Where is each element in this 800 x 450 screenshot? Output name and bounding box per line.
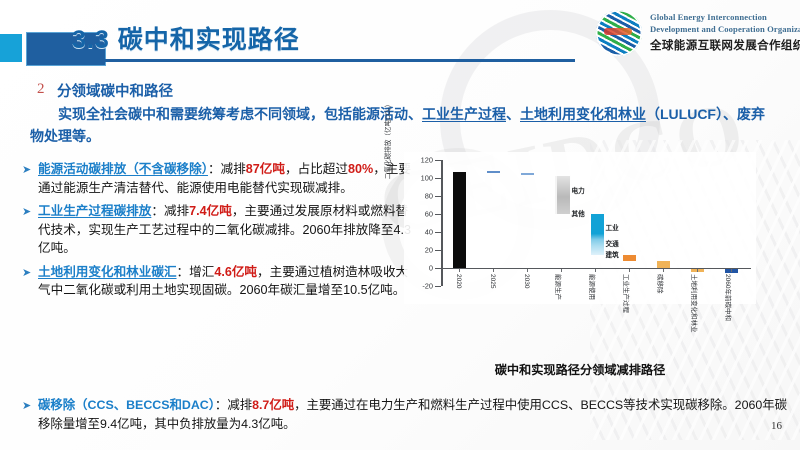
bullet-arrow-icon: ➤ xyxy=(22,203,31,222)
y-axis-labels: -20020406080100120 xyxy=(404,152,433,294)
bullet-pre: 减排 xyxy=(227,398,252,412)
section-title: 分领域碳中和路径 xyxy=(57,80,173,101)
bullet-sep: ： xyxy=(215,398,227,412)
logo-english-line2: Development and Cooperation Organization xyxy=(650,24,800,34)
globe-icon xyxy=(596,10,642,56)
bullet-sep: ： xyxy=(177,265,190,279)
bullet-key: 工业生产过程碳排放 xyxy=(38,204,151,218)
x-axis-tick-label: 能源生产 xyxy=(554,274,564,300)
y-axis-tick xyxy=(435,286,441,287)
chart-caption: 碳中和实现路径分领域减排路径 xyxy=(404,360,756,378)
intro-text-part2: 、 xyxy=(506,106,520,122)
section-number: 2 xyxy=(37,81,45,98)
bullet-list: ➤ 能源活动碳排放（不含碳移除）：减排87亿吨，占比超过80%，主要通过能源生产… xyxy=(22,160,412,305)
bullet-arrow-icon: ➤ xyxy=(22,161,31,180)
intro-underline-2: 土地利用变化和林业 xyxy=(520,106,646,122)
header-accent-square-cyan xyxy=(0,34,22,62)
chart-bar xyxy=(623,255,636,261)
x-axis-tick-label: 工业生产过程 xyxy=(622,274,632,313)
intro-underline-1: 工业生产过程 xyxy=(422,106,506,122)
bullet-key: 能源活动碳排放（不含碳移除） xyxy=(38,162,208,176)
x-axis-tick-label: 2020 xyxy=(455,274,462,288)
logo-english-line1: Global Energy Interconnection xyxy=(650,12,767,22)
chart-segment-label: 建筑 xyxy=(606,249,619,259)
list-item: ➤ 工业生产过程碳排放：减排7.4亿吨，主要通过发展原材料或燃料替代技术，实现生… xyxy=(22,202,412,258)
logo-chinese-name: 全球能源互联网发展合作组织 xyxy=(650,37,800,53)
y-axis-tick xyxy=(435,232,441,233)
bullet-key: 碳移除（CCS、BECCS和DAC） xyxy=(38,398,215,412)
list-item-wide: ➤ 碳移除（CCS、BECCS和DAC）：减排8.7亿吨，主要通过在电力生产和燃… xyxy=(22,396,794,434)
bullet-sep: ： xyxy=(151,204,164,218)
y-axis-title: 二氧化碳排放（亿吨CO₂） xyxy=(382,92,392,188)
x-axis-tick-label: 土地利用变化和林业 xyxy=(690,274,700,333)
x-axis-tick-label: 2025 xyxy=(489,274,496,288)
bullet-sep: ： xyxy=(208,162,221,176)
x-axis-tick-label: 碳移除 xyxy=(656,274,666,294)
bullet-highlight-1: 87亿吨 xyxy=(246,162,285,176)
y-axis-tick-label: -20 xyxy=(422,282,433,291)
bullet-mid: ，占比超过 xyxy=(285,162,348,176)
bullet-pre: 增汇 xyxy=(189,265,214,279)
chart-bar xyxy=(453,172,466,268)
page-number: 16 xyxy=(771,420,782,432)
slide-header: 3.3 碳中和实现路径 Global Energy Interconnectio… xyxy=(0,0,800,72)
list-item: ➤ 土地利用变化和林业碳汇：增汇4.6亿吨，主要通过植树造林吸收大气中二氧化碳或… xyxy=(22,263,412,300)
organization-logo: Global Energy Interconnection Developmen… xyxy=(596,8,791,60)
chart-bar xyxy=(555,176,570,214)
intro-text-part1: 实现全社会碳中和需要统筹考虑不同领域，包括能源活动、 xyxy=(58,106,422,122)
chart-segment-label: 交通 xyxy=(606,238,619,248)
bullet-key: 土地利用变化和林业碳汇 xyxy=(38,265,177,279)
y-axis-tick-label: 60 xyxy=(425,210,433,219)
y-axis-tick xyxy=(435,250,441,251)
chart-bar xyxy=(487,171,500,173)
bullet-arrow-icon: ➤ xyxy=(22,397,31,416)
bullet-highlight-1: 7.4亿吨 xyxy=(189,204,232,218)
chart-bar xyxy=(657,261,670,268)
intro-paragraph: 实现全社会碳中和需要统筹考虑不同领域，包括能源活动、工业生产过程、土地利用变化和… xyxy=(30,103,770,147)
y-axis-tick-label: 120 xyxy=(421,156,433,165)
x-axis-tick-label: 2030 xyxy=(523,274,530,288)
chart-segment-label: 其他 xyxy=(572,208,585,218)
bullet-pre: 减排 xyxy=(164,204,189,218)
y-axis-tick-label: 80 xyxy=(425,192,433,201)
bullet-highlight-2: 80% xyxy=(348,162,373,176)
page-title: 3.3 碳中和实现路径 xyxy=(72,20,300,56)
header-rule xyxy=(35,59,575,62)
y-axis-tick xyxy=(435,196,441,197)
y-axis-tick-label: 100 xyxy=(421,174,433,183)
zero-baseline xyxy=(441,268,751,269)
waterfall-chart: -20020406080100120 二氧化碳排放（亿吨CO₂） 2020202… xyxy=(404,152,756,304)
chart-segment-label: 电力 xyxy=(572,185,585,195)
y-axis-tick-label: 40 xyxy=(425,228,433,237)
x-axis-tick-label: 2060年前碳中和 xyxy=(724,274,734,321)
bullet-highlight-1: 4.6亿吨 xyxy=(214,265,257,279)
list-item: ➤ 能源活动碳排放（不含碳移除）：减排87亿吨，占比超过80%，主要通过能源生产… xyxy=(22,160,412,197)
bullet-pre: 减排 xyxy=(221,162,246,176)
y-axis-tick xyxy=(435,160,441,161)
y-axis-tick xyxy=(435,178,441,179)
y-axis-tick-label: 0 xyxy=(429,264,433,273)
chart-bar xyxy=(521,173,534,176)
x-axis-tick-label: 能源使用 xyxy=(588,274,598,300)
bullet-arrow-icon: ➤ xyxy=(22,264,31,283)
chart-segment-label: 工业 xyxy=(606,222,619,232)
y-axis-tick-label: 20 xyxy=(425,246,433,255)
slide-canvas: GEIDCO 3.3 碳中和实现路径 Global Energy Interco… xyxy=(0,0,800,450)
y-axis-tick xyxy=(435,214,441,215)
bullet-highlight-1: 8.7亿吨 xyxy=(252,398,294,412)
chart-bar xyxy=(589,214,604,255)
